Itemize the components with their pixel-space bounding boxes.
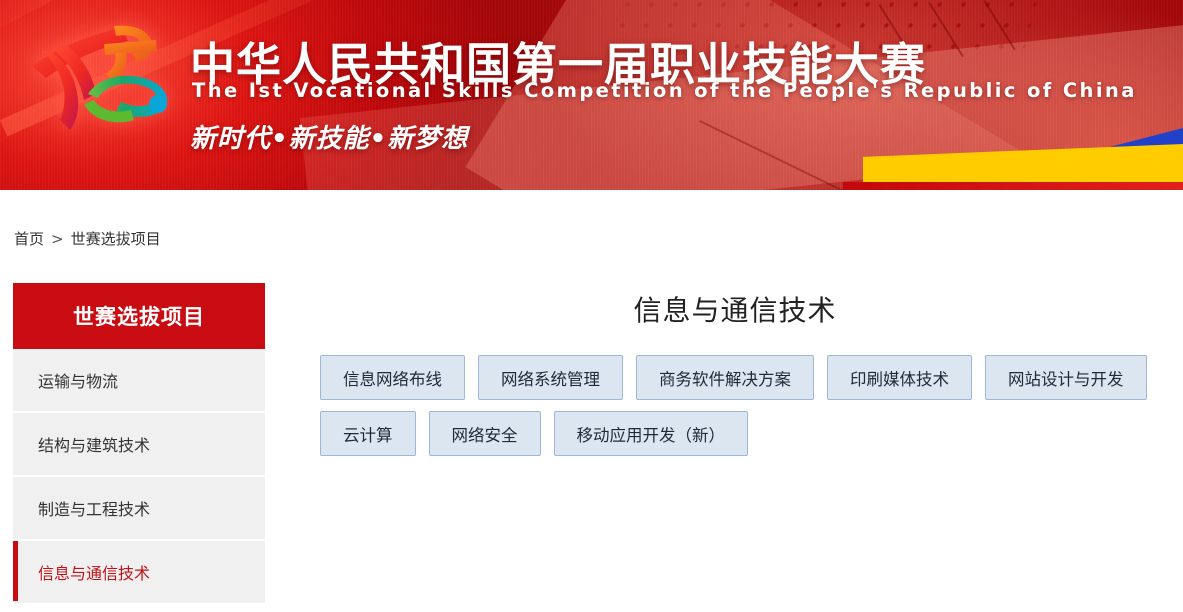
- main-content: 信息与通信技术 信息网络布线 网络系统管理 商务软件解决方案 印刷媒体技术 网站…: [300, 283, 1170, 456]
- sidebar-header: 世赛选拔项目: [13, 283, 265, 349]
- skills-competition-logo-icon: [18, 8, 190, 136]
- project-chip-mobile-app-development[interactable]: 移动应用开发（新）: [554, 411, 749, 456]
- banner-title-english: The Ist Vocational Skills Competition of…: [192, 79, 1137, 102]
- breadcrumb-separator: >: [51, 230, 64, 248]
- sidebar: 世赛选拔项目 运输与物流 结构与建筑技术 制造与工程技术 信息与通信技术: [13, 283, 265, 605]
- project-chip-cloud-computing[interactable]: 云计算: [320, 411, 416, 456]
- banner-red-strip: [843, 182, 1183, 190]
- project-chip-business-software-solutions[interactable]: 商务软件解决方案: [636, 355, 814, 400]
- sidebar-item-information-communication[interactable]: 信息与通信技术: [13, 541, 265, 605]
- sidebar-item-label: 结构与建筑技术: [38, 432, 150, 456]
- project-chip-network-cabling[interactable]: 信息网络布线: [320, 355, 465, 400]
- project-chip-it-network-systems-admin[interactable]: 网络系统管理: [478, 355, 623, 400]
- sidebar-item-construction-building[interactable]: 结构与建筑技术: [13, 413, 265, 477]
- project-chip-list: 信息网络布线 网络系统管理 商务软件解决方案 印刷媒体技术 网站设计与开发 云计…: [300, 355, 1170, 456]
- breadcrumb-home-link[interactable]: 首页: [14, 230, 44, 248]
- site-banner: 中华人民共和国第一届职业技能大赛 The Ist Vocational Skil…: [0, 0, 1183, 190]
- breadcrumb-current: 世赛选拔项目: [71, 230, 161, 248]
- banner-slogan: 新时代•新技能•新梦想: [190, 118, 468, 155]
- project-chip-web-technologies[interactable]: 网站设计与开发: [985, 355, 1147, 400]
- page-title: 信息与通信技术: [300, 283, 1170, 355]
- sidebar-item-label: 制造与工程技术: [38, 496, 150, 520]
- project-chip-print-media-technology[interactable]: 印刷媒体技术: [827, 355, 972, 400]
- project-chip-cyber-security[interactable]: 网络安全: [429, 411, 541, 456]
- breadcrumb: 首页>世赛选拔项目: [14, 228, 161, 249]
- sidebar-item-manufacturing-engineering[interactable]: 制造与工程技术: [13, 477, 265, 541]
- sidebar-item-label: 信息与通信技术: [38, 560, 150, 584]
- sidebar-item-label: 运输与物流: [38, 368, 118, 392]
- sidebar-item-transport-logistics[interactable]: 运输与物流: [13, 349, 265, 413]
